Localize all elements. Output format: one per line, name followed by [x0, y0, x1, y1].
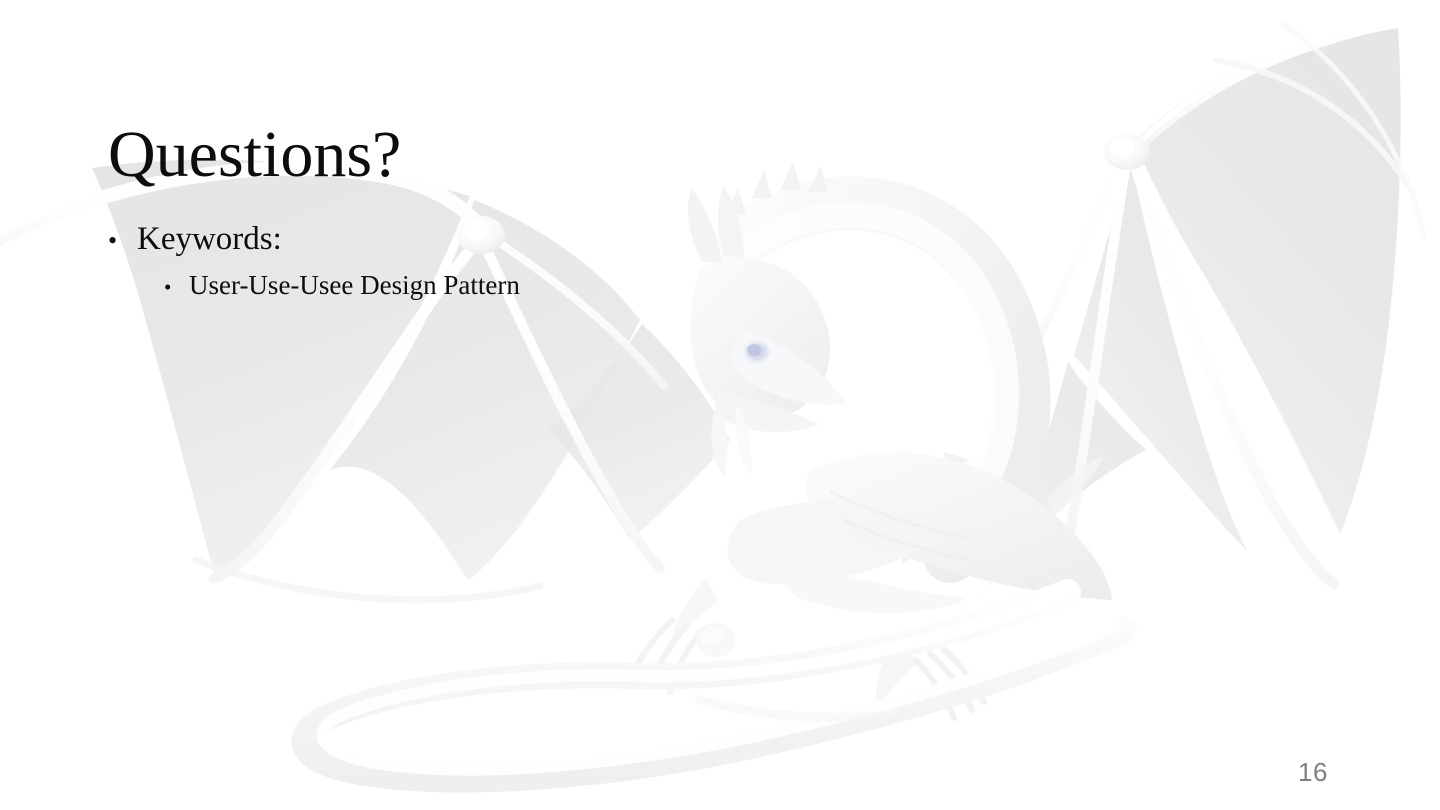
bullet-point-icon: •: [108, 228, 137, 254]
bullet-item-level-1: • Keywords:: [108, 218, 1228, 261]
bullet-text-design-pattern: User-Use-Usee Design Pattern: [189, 268, 520, 303]
slide-body-bullet-list: • Keywords: • User-Use-Usee Design Patte…: [108, 218, 1228, 303]
slide-content-layer: Questions? • Keywords: • User-Use-Usee D…: [0, 0, 1440, 810]
bullet-point-icon: •: [164, 277, 189, 298]
bullet-item-level-2: • User-Use-Usee Design Pattern: [108, 268, 1228, 303]
slide-title: Questions?: [108, 120, 401, 190]
presentation-slide: Questions? • Keywords: • User-Use-Usee D…: [0, 0, 1440, 810]
slide-page-number: 16: [1298, 757, 1328, 788]
bullet-text-keywords: Keywords:: [137, 218, 282, 261]
